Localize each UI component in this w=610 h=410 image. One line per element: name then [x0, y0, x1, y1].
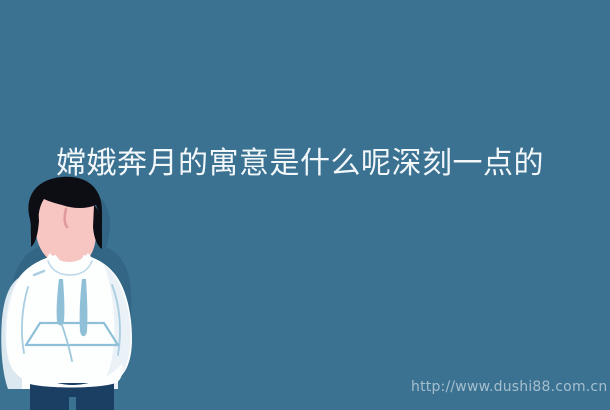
illustration-svg	[0, 175, 180, 410]
pants-gap	[69, 397, 76, 410]
page-title: 嫦娥奔月的寓意是什么呢深刻一点的	[56, 142, 576, 186]
watermark-url: http://www.dushi88.com.cn	[411, 379, 607, 395]
image-canvas: 嫦娥奔月的寓意是什么呢深刻一点的 http://www.dushi88.com.…	[0, 0, 610, 410]
person-in-white-hoodie-illustration	[0, 175, 180, 410]
